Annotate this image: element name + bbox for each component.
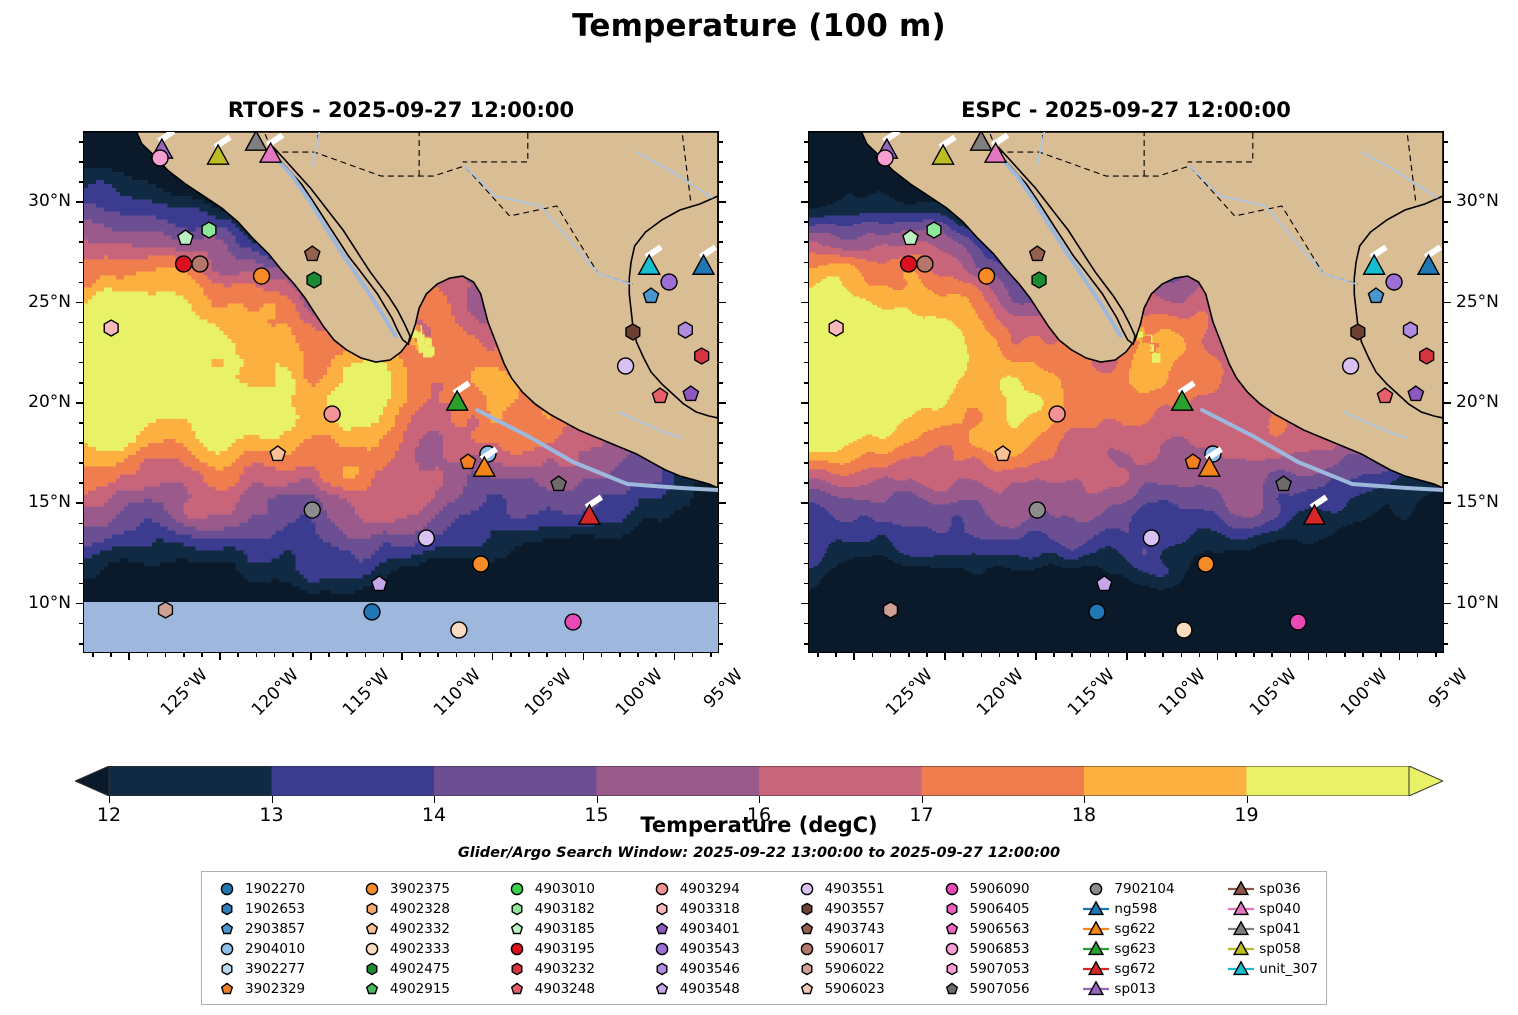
y-tick-label-right: 25°N (1456, 292, 1518, 312)
y-tick-minor (804, 342, 808, 344)
legend-item[interactable]: 4903294 (647, 879, 792, 899)
y-tick-minor (719, 462, 723, 464)
x-tick-major (944, 653, 946, 660)
y-tick-label-left: 10°N (1, 593, 71, 613)
legend-label: 4903318 (677, 901, 740, 917)
y-tick-major (801, 402, 808, 404)
legend-label: 4903551 (822, 881, 885, 897)
x-tick-label: 100°W (612, 665, 667, 720)
legend-item[interactable]: 1902653 (212, 899, 357, 919)
legend-label: 5907053 (967, 961, 1030, 977)
legend-marker-circle-icon (212, 940, 242, 958)
legend-item[interactable]: 4902915 (357, 979, 502, 999)
x-tick-minor (274, 653, 276, 657)
legend-marker-pentagon-icon (937, 980, 967, 998)
legend-marker-circle-icon (357, 880, 387, 898)
legend-item[interactable]: 4902328 (357, 899, 502, 919)
figure-root: Temperature (100 m) RTOFS - 2025-09-27 1… (0, 0, 1518, 1015)
x-tick-minor (926, 653, 928, 657)
legend-item[interactable]: sp040 (1226, 899, 1318, 919)
legend-item[interactable]: sp013 (1081, 979, 1226, 999)
y-tick-minor (1444, 442, 1448, 444)
legend-label: 4903010 (532, 881, 595, 897)
legend-label: 4903546 (677, 961, 740, 977)
x-tick-minor (962, 653, 964, 657)
y-tick-label-right: 30°N (1456, 191, 1518, 211)
x-tick-minor (510, 653, 512, 657)
legend-marker-triangle-icon (1226, 940, 1256, 958)
x-tick-minor (237, 653, 239, 657)
legend-label: 5906090 (967, 881, 1030, 897)
x-tick-label: 120°W (973, 665, 1028, 720)
legend-label: 4903232 (532, 961, 595, 977)
x-tick-minor (383, 653, 385, 657)
legend-item[interactable]: 5906022 (792, 959, 937, 979)
y-tick-minor (804, 322, 808, 324)
x-tick-minor (1271, 653, 1273, 657)
x-tick-minor (710, 653, 712, 657)
legend-label: ng598 (1111, 901, 1157, 917)
legend-item[interactable]: 2904010 (212, 939, 357, 959)
map-panel-rtofs: RTOFS - 2025-09-27 12:00:00 125°W120°W11… (83, 131, 719, 653)
x-tick-minor (908, 653, 910, 657)
search-window-text: Glider/Argo Search Window: 2025-09-22 13… (0, 845, 1518, 861)
x-tick-minor (1290, 653, 1292, 657)
legend-label: 5906405 (967, 901, 1030, 917)
x-tick-label: 115°W (339, 665, 394, 720)
y-tick-minor (719, 623, 723, 625)
y-tick-minor (719, 583, 723, 585)
y-tick-label-right: 15°N (1456, 492, 1518, 512)
legend-item[interactable]: 4903248 (502, 979, 647, 999)
y-tick-minor (1444, 482, 1448, 484)
legend-marker-hexagon-icon (937, 960, 967, 978)
y-tick-minor (719, 382, 723, 384)
y-tick-major (76, 603, 83, 605)
legend-label: 4903248 (532, 981, 595, 997)
x-tick-minor (1053, 653, 1055, 657)
legend-marker-circle-icon (792, 940, 822, 958)
y-tick-major (801, 201, 808, 203)
legend-marker-circle-icon (1081, 880, 1111, 898)
legend-item[interactable]: 4903557 (792, 899, 937, 919)
legend-marker-hexagon-icon (792, 900, 822, 918)
legend-item[interactable]: sg622 (1081, 919, 1226, 939)
figure-title: Temperature (100 m) (0, 8, 1518, 44)
legend-marker-hexagon-icon (212, 900, 242, 918)
legend-label: sp041 (1256, 921, 1300, 937)
legend-label: sp013 (1111, 981, 1155, 997)
colorbar-tick (1084, 796, 1085, 803)
panel-title-espc: ESPC - 2025-09-27 12:00:00 (808, 98, 1444, 122)
x-tick-label: 95°W (699, 665, 746, 712)
legend-marker-hexagon-icon (647, 960, 677, 978)
x-tick-minor (1380, 653, 1382, 657)
x-tick-minor (890, 653, 892, 657)
x-tick-minor (1071, 653, 1073, 657)
y-tick-minor (804, 623, 808, 625)
y-tick-label-right: 20°N (1456, 392, 1518, 412)
legend-marker-triangle-icon (1226, 880, 1256, 898)
legend-item[interactable]: sp041 (1226, 919, 1318, 939)
x-tick-minor (619, 653, 621, 657)
legend-item[interactable]: 4902333 (357, 939, 502, 959)
legend-label: 4902328 (387, 901, 450, 917)
legend-label: 5907056 (967, 981, 1030, 997)
y-tick-minor (1444, 462, 1448, 464)
legend-label: 7902104 (1111, 881, 1174, 897)
legend-marker-hexagon-icon (647, 900, 677, 918)
legend-label: 1902653 (242, 901, 305, 917)
legend-label: 4902915 (387, 981, 450, 997)
y-tick-label-left: 30°N (1, 191, 71, 211)
y-tick-minor (1444, 362, 1448, 364)
x-tick-minor (1326, 653, 1328, 657)
y-tick-minor (719, 362, 723, 364)
x-tick-label: 110°W (430, 665, 485, 720)
legend-item[interactable]: 4903318 (647, 899, 792, 919)
y-tick-minor (1444, 382, 1448, 384)
y-tick-minor (79, 442, 83, 444)
legend-item[interactable]: 5907053 (937, 959, 1082, 979)
x-tick-major (1399, 653, 1401, 660)
x-tick-major (674, 653, 676, 660)
colorbar-tick (759, 796, 760, 803)
y-tick-major (801, 302, 808, 304)
legend-item[interactable]: 3902277 (212, 959, 357, 979)
legend-marker-circle-icon (502, 880, 532, 898)
x-tick-minor (419, 653, 421, 657)
y-tick-minor (79, 643, 83, 645)
y-tick-minor (719, 141, 723, 143)
y-tick-minor (1444, 262, 1448, 264)
x-tick-minor (365, 653, 367, 657)
legend-label: 5906563 (967, 921, 1030, 937)
legend-label: 5906017 (822, 941, 885, 957)
legend-item[interactable]: 5906023 (792, 979, 937, 999)
y-tick-minor (804, 442, 808, 444)
legend-item[interactable]: unit_307 (1226, 959, 1318, 979)
y-tick-minor (719, 282, 723, 284)
y-tick-minor (804, 262, 808, 264)
legend-item[interactable]: 5906017 (792, 939, 937, 959)
y-tick-minor (804, 563, 808, 565)
legend-marker-pentagon-icon (792, 920, 822, 938)
x-tick-label: 125°W (882, 665, 937, 720)
legend-item[interactable]: 5906563 (937, 919, 1082, 939)
legend-item[interactable]: 4903195 (502, 939, 647, 959)
x-tick-minor (1362, 653, 1364, 657)
legend-item[interactable]: 5906090 (937, 879, 1082, 899)
y-tick-major (1444, 402, 1451, 404)
y-tick-minor (79, 362, 83, 364)
legend-marker-triangle-icon (1081, 940, 1111, 958)
y-tick-minor (804, 382, 808, 384)
legend-marker-pentagon-icon (212, 920, 242, 938)
legend-marker-triangle-icon (1081, 900, 1111, 918)
colorbar-tick (272, 796, 273, 803)
x-tick-major (219, 653, 221, 660)
legend-marker-circle-icon (502, 940, 532, 958)
legend-marker-hexagon-icon (502, 960, 532, 978)
legend-marker-circle-icon (647, 880, 677, 898)
y-tick-major (76, 302, 83, 304)
x-tick-minor (165, 653, 167, 657)
y-tick-label-left: 25°N (1, 292, 71, 312)
y-tick-label-left: 20°N (1, 392, 71, 412)
y-tick-major (1444, 302, 1451, 304)
x-tick-minor (110, 653, 112, 657)
x-tick-label: 105°W (521, 665, 576, 720)
legend-item[interactable]: sg623 (1081, 939, 1226, 959)
y-tick-minor (79, 623, 83, 625)
y-tick-minor (719, 241, 723, 243)
x-tick-major (310, 653, 312, 660)
legend-marker-hexagon-icon (357, 900, 387, 918)
y-tick-minor (79, 543, 83, 545)
x-tick-minor (292, 653, 294, 657)
y-tick-minor (719, 342, 723, 344)
x-tick-minor (637, 653, 639, 657)
y-tick-minor (804, 282, 808, 284)
x-tick-minor (1017, 653, 1019, 657)
legend-item[interactable]: sp058 (1226, 939, 1318, 959)
y-tick-minor (719, 181, 723, 183)
y-tick-minor (1444, 523, 1448, 525)
legend-item[interactable]: 4903182 (502, 899, 647, 919)
y-tick-minor (719, 563, 723, 565)
legend-item[interactable]: 4902475 (357, 959, 502, 979)
legend-marker-pentagon-icon (357, 920, 387, 938)
y-tick-minor (79, 563, 83, 565)
y-tick-minor (1444, 322, 1448, 324)
legend-item[interactable]: 5907056 (937, 979, 1082, 999)
legend-item[interactable]: 5906405 (937, 899, 1082, 919)
y-tick-minor (719, 543, 723, 545)
x-tick-major (1308, 653, 1310, 660)
y-tick-minor (1444, 282, 1448, 284)
legend-box: 1902270190265329038572904010390227739023… (201, 871, 1327, 1005)
x-tick-minor (346, 653, 348, 657)
x-tick-minor (528, 653, 530, 657)
legend-marker-pentagon-icon (502, 920, 532, 938)
legend-marker-triangle-icon (1226, 960, 1256, 978)
y-tick-minor (719, 422, 723, 424)
legend-label: 4903401 (677, 921, 740, 937)
y-tick-minor (804, 482, 808, 484)
legend-item[interactable]: 4903546 (647, 959, 792, 979)
legend-marker-pentagon-icon (647, 980, 677, 998)
legend-item[interactable]: 3902329 (212, 979, 357, 999)
legend-marker-hexagon-icon (937, 900, 967, 918)
x-tick-minor (835, 653, 837, 657)
legend-item[interactable]: ng598 (1081, 899, 1226, 919)
y-tick-minor (79, 262, 83, 264)
legend-label: 3902329 (242, 981, 305, 997)
legend-label: 4902475 (387, 961, 450, 977)
y-tick-minor (804, 161, 808, 163)
legend-label: 4903557 (822, 901, 885, 917)
x-tick-label: 120°W (248, 665, 303, 720)
legend-marker-triangle-icon (1226, 920, 1256, 938)
legend-marker-circle-icon (357, 940, 387, 958)
legend-label: 4903195 (532, 941, 595, 957)
x-tick-minor (328, 653, 330, 657)
map-panel-espc: ESPC - 2025-09-27 12:00:00 125°W120°W115… (808, 131, 1444, 653)
y-tick-major (1444, 502, 1451, 504)
legend-label: 1902270 (242, 881, 305, 897)
x-tick-minor (1253, 653, 1255, 657)
x-tick-label: 105°W (1246, 665, 1301, 720)
y-tick-minor (79, 523, 83, 525)
legend-item[interactable]: 4902332 (357, 919, 502, 939)
x-tick-minor (1162, 653, 1164, 657)
x-tick-label: 125°W (157, 665, 212, 720)
y-tick-minor (1444, 623, 1448, 625)
y-tick-minor (1444, 161, 1448, 163)
x-tick-minor (655, 653, 657, 657)
x-tick-major (128, 653, 130, 660)
x-tick-minor (981, 653, 983, 657)
x-tick-label: 100°W (1337, 665, 1392, 720)
legend-marker-triangle-icon (1081, 980, 1111, 998)
y-tick-minor (804, 241, 808, 243)
legend-marker-hexagon-icon (357, 960, 387, 978)
legend-label: 2903857 (242, 921, 305, 937)
x-tick-label: 115°W (1064, 665, 1119, 720)
x-tick-minor (1344, 653, 1346, 657)
y-tick-minor (719, 442, 723, 444)
legend-label: sg622 (1111, 921, 1155, 937)
y-tick-minor (79, 282, 83, 284)
legend-item[interactable]: 7902104 (1081, 879, 1226, 899)
legend-item[interactable]: 4903551 (792, 879, 937, 899)
legend-item[interactable]: 3902375 (357, 879, 502, 899)
y-tick-minor (719, 482, 723, 484)
legend-marker-circle-icon (212, 880, 242, 898)
x-tick-minor (565, 653, 567, 657)
legend-label: 4902332 (387, 921, 450, 937)
x-tick-minor (999, 653, 1001, 657)
y-tick-major (719, 603, 726, 605)
y-tick-minor (719, 161, 723, 163)
y-tick-minor (1444, 241, 1448, 243)
y-tick-minor (79, 342, 83, 344)
y-tick-minor (79, 181, 83, 183)
legend-item[interactable]: 4903548 (647, 979, 792, 999)
legend-marker-circle-icon (937, 880, 967, 898)
legend-label: 3902277 (242, 961, 305, 977)
legend-label: 4903543 (677, 941, 740, 957)
legend-marker-circle-icon (647, 940, 677, 958)
legend-item[interactable]: 4903010 (502, 879, 647, 899)
y-tick-minor (79, 462, 83, 464)
y-tick-minor (804, 523, 808, 525)
y-tick-minor (79, 141, 83, 143)
y-tick-minor (804, 462, 808, 464)
y-tick-minor (719, 322, 723, 324)
legend-label: 4903743 (822, 921, 885, 937)
y-tick-major (1444, 603, 1451, 605)
y-tick-minor (1444, 422, 1448, 424)
legend-label: 5906023 (822, 981, 885, 997)
legend-label: 4903294 (677, 881, 740, 897)
y-tick-minor (804, 362, 808, 364)
map-canvas-espc[interactable] (808, 131, 1444, 653)
legend-item[interactable]: 4903185 (502, 919, 647, 939)
y-tick-major (1444, 201, 1451, 203)
legend-label: 5906022 (822, 961, 885, 977)
legend-label: sp058 (1256, 941, 1300, 957)
legend-marker-hexagon-icon (502, 900, 532, 918)
y-tick-minor (1444, 563, 1448, 565)
x-tick-major (1126, 653, 1128, 660)
colorbar-tick (1247, 796, 1248, 803)
y-tick-minor (1444, 221, 1448, 223)
y-tick-major (719, 402, 726, 404)
map-canvas-rtofs[interactable] (83, 131, 719, 653)
y-tick-minor (804, 181, 808, 183)
legend-item[interactable]: 5906853 (937, 939, 1082, 959)
legend-item[interactable]: sg672 (1081, 959, 1226, 979)
y-tick-major (801, 502, 808, 504)
x-tick-minor (437, 653, 439, 657)
y-tick-minor (804, 643, 808, 645)
legend-item[interactable]: sp036 (1226, 879, 1318, 899)
legend-marker-pentagon-icon (502, 980, 532, 998)
x-tick-minor (474, 653, 476, 657)
y-tick-major (719, 201, 726, 203)
y-tick-major (76, 402, 83, 404)
legend-item[interactable]: 4903743 (792, 919, 937, 939)
x-tick-major (1217, 653, 1219, 660)
legend-marker-pentagon-icon (212, 980, 242, 998)
x-tick-minor (692, 653, 694, 657)
x-tick-minor (183, 653, 185, 657)
x-tick-minor (1090, 653, 1092, 657)
legend-marker-triangle-icon (1081, 920, 1111, 938)
legend-item[interactable]: 1902270 (212, 879, 357, 899)
y-tick-minor (79, 221, 83, 223)
x-tick-label: 110°W (1155, 665, 1210, 720)
legend-label: 4902333 (387, 941, 450, 957)
legend-item[interactable]: 4903401 (647, 919, 792, 939)
x-tick-major (1035, 653, 1037, 660)
legend-item[interactable]: 2903857 (212, 919, 357, 939)
x-tick-minor (1144, 653, 1146, 657)
legend-label: 4903182 (532, 901, 595, 917)
y-tick-label-right: 10°N (1456, 593, 1518, 613)
y-tick-minor (719, 643, 723, 645)
y-tick-minor (1444, 643, 1448, 645)
y-tick-major (76, 502, 83, 504)
legend-label: 2904010 (242, 941, 305, 957)
y-tick-minor (1444, 342, 1448, 344)
x-tick-minor (601, 653, 603, 657)
legend-item[interactable]: 4903232 (502, 959, 647, 979)
x-tick-major (853, 653, 855, 660)
y-tick-minor (79, 583, 83, 585)
legend-item[interactable]: 4903543 (647, 939, 792, 959)
y-tick-minor (804, 543, 808, 545)
colorbar-tick (922, 796, 923, 803)
y-tick-minor (79, 382, 83, 384)
x-tick-minor (546, 653, 548, 657)
y-tick-major (76, 201, 83, 203)
x-tick-minor (1181, 653, 1183, 657)
y-tick-minor (804, 583, 808, 585)
colorbar-tick (597, 796, 598, 803)
